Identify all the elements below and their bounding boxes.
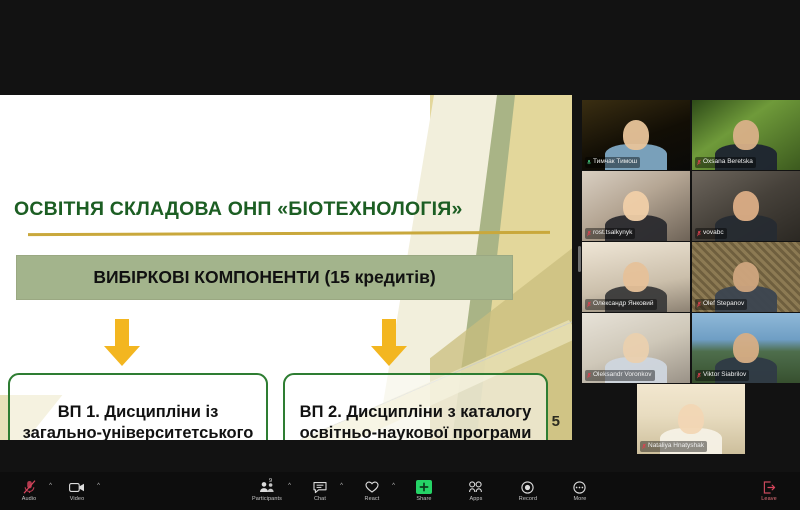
participant-name-badge: Viktor Siabrilov — [695, 370, 749, 381]
participant-name: rost.tsalkynyk — [593, 230, 632, 237]
react-button[interactable]: React ^ — [355, 472, 389, 510]
participant-tile[interactable]: Oxsana Beretska — [692, 100, 800, 170]
elective-block-1: ВП 1. Дисципліни із загально-університет… — [8, 373, 268, 440]
participant-face — [623, 262, 649, 292]
chat-label: Chat — [314, 496, 326, 502]
participant-face — [623, 120, 649, 150]
video-chevron-up-icon[interactable]: ^ — [97, 483, 100, 489]
chat-button[interactable]: Chat ^ — [303, 472, 337, 510]
participant-tile[interactable]: vovabc — [692, 171, 800, 241]
microphone-muted-icon — [697, 301, 701, 308]
participant-tile[interactable]: Nataliya Hnatyshak — [637, 384, 745, 454]
participant-name: Oxsana Beretska — [703, 159, 753, 166]
participant-face — [678, 404, 704, 434]
participant-name-badge: Oxsana Beretska — [695, 157, 756, 168]
apps-button[interactable]: Apps — [459, 472, 493, 510]
react-chevron-up-icon[interactable]: ^ — [392, 483, 395, 489]
chat-chevron-up-icon[interactable]: ^ — [340, 483, 343, 489]
elective-block-2-text: ВП 2. Дисципліни з каталогу освітньо-нау… — [293, 402, 538, 440]
apps-label: Apps — [470, 496, 483, 502]
microphone-muted-icon — [587, 230, 591, 237]
share-label: Share — [416, 496, 431, 502]
record-button[interactable]: Record — [511, 472, 545, 510]
slide-components-label: ВИБІРКОВІ КОМПОНЕНТИ (15 кредитів) — [93, 267, 435, 288]
participant-name-badge: Тимчак Тимош — [585, 157, 640, 168]
participants-label: Participants — [252, 496, 282, 502]
participant-name-badge: Олександр Янковий — [585, 299, 657, 310]
slide-title-rule — [28, 231, 550, 236]
participants-button[interactable]: 9 Participants ^ — [249, 472, 285, 510]
video-label: Video — [70, 496, 84, 502]
camera-icon — [69, 480, 85, 494]
participant-tile[interactable]: Olef Stepanov — [692, 242, 800, 312]
slide-title: ОСВІТНЯ СКЛАДОВА ОНП «БІОТЕХНОЛОГІЯ» — [14, 198, 463, 221]
participant-face — [733, 333, 759, 363]
record-icon — [520, 480, 536, 494]
participant-name-badge: Olef Stepanov — [695, 299, 747, 310]
participant-name-badge: Oleksandr Voronkov — [585, 370, 655, 381]
microphone-muted-icon — [21, 480, 37, 494]
leave-door-icon — [761, 480, 777, 494]
participant-tile[interactable]: Тимчак Тимош — [582, 100, 690, 170]
participant-name: Viktor Siabrilov — [703, 372, 746, 379]
more-button[interactable]: More — [563, 472, 597, 510]
meeting-toolbar: Audio ^ Video ^ 9 — [0, 472, 800, 510]
heart-icon — [364, 480, 380, 494]
share-screen-icon — [416, 480, 432, 494]
participant-face — [623, 191, 649, 221]
microphone-muted-icon — [697, 372, 701, 379]
react-label: React — [365, 496, 380, 502]
elective-block-2: ВП 2. Дисципліни з каталогу освітньо-нау… — [283, 373, 548, 440]
participants-count: 9 — [269, 478, 272, 484]
down-arrow-icon — [103, 319, 141, 367]
leave-label: Leave — [761, 496, 777, 502]
elective-block-1-text: ВП 1. Дисципліни із загально-університет… — [18, 402, 258, 440]
video-button[interactable]: Video ^ — [60, 472, 94, 510]
microphone-icon — [587, 159, 591, 166]
participant-tile[interactable]: rost.tsalkynyk — [582, 171, 690, 241]
participants-chevron-up-icon[interactable]: ^ — [288, 483, 291, 489]
participant-name: Nataliya Hnatyshak — [648, 443, 704, 450]
microphone-muted-icon — [642, 443, 646, 450]
audio-chevron-up-icon[interactable]: ^ — [49, 483, 52, 489]
shared-screen-slide[interactable]: ОСВІТНЯ СКЛАДОВА ОНП «БІОТЕХНОЛОГІЯ» ВИБ… — [0, 95, 572, 440]
participant-tile[interactable]: Oleksandr Voronkov — [582, 313, 690, 383]
participant-name-badge: rost.tsalkynyk — [585, 228, 635, 239]
more-label: More — [574, 496, 587, 502]
participant-face — [733, 191, 759, 221]
apps-icon — [468, 480, 484, 494]
participant-face — [733, 120, 759, 150]
record-label: Record — [519, 496, 537, 502]
participant-name: Тимчак Тимош — [593, 159, 637, 166]
leave-meeting-button[interactable]: Leave — [752, 472, 786, 510]
participant-name: Олександр Янковий — [593, 301, 654, 308]
participant-name: Oleksandr Voronkov — [593, 372, 652, 379]
microphone-muted-icon — [587, 372, 591, 379]
participants-icon — [259, 480, 275, 494]
slide-page-number: 5 — [552, 413, 560, 430]
participant-name: vovabc — [703, 230, 724, 237]
participant-gallery: Тимчак ТимошOxsana Beretskarost.tsalkyny… — [582, 100, 800, 440]
chat-bubble-icon — [312, 480, 328, 494]
participant-name: Olef Stepanov — [703, 301, 744, 308]
participant-name-badge: Nataliya Hnatyshak — [640, 441, 707, 452]
participant-tile[interactable]: Viktor Siabrilov — [692, 313, 800, 383]
meeting-stage: ОСВІТНЯ СКЛАДОВА ОНП «БІОТЕХНОЛОГІЯ» ВИБ… — [0, 0, 800, 472]
microphone-muted-icon — [697, 230, 701, 237]
audio-button[interactable]: Audio ^ — [12, 472, 46, 510]
microphone-muted-icon — [587, 301, 591, 308]
gallery-scrollbar[interactable] — [578, 246, 581, 272]
audio-label: Audio — [22, 496, 37, 502]
microphone-muted-icon — [697, 159, 701, 166]
more-ellipsis-icon — [572, 480, 588, 494]
share-screen-button[interactable]: Share — [407, 472, 441, 510]
participant-face — [733, 262, 759, 292]
participant-tile[interactable]: Олександр Янковий — [582, 242, 690, 312]
down-arrow-icon — [370, 319, 408, 367]
participant-name-badge: vovabc — [695, 228, 727, 239]
participant-face — [623, 333, 649, 363]
slide-components-band: ВИБІРКОВІ КОМПОНЕНТИ (15 кредитів) — [16, 255, 513, 300]
